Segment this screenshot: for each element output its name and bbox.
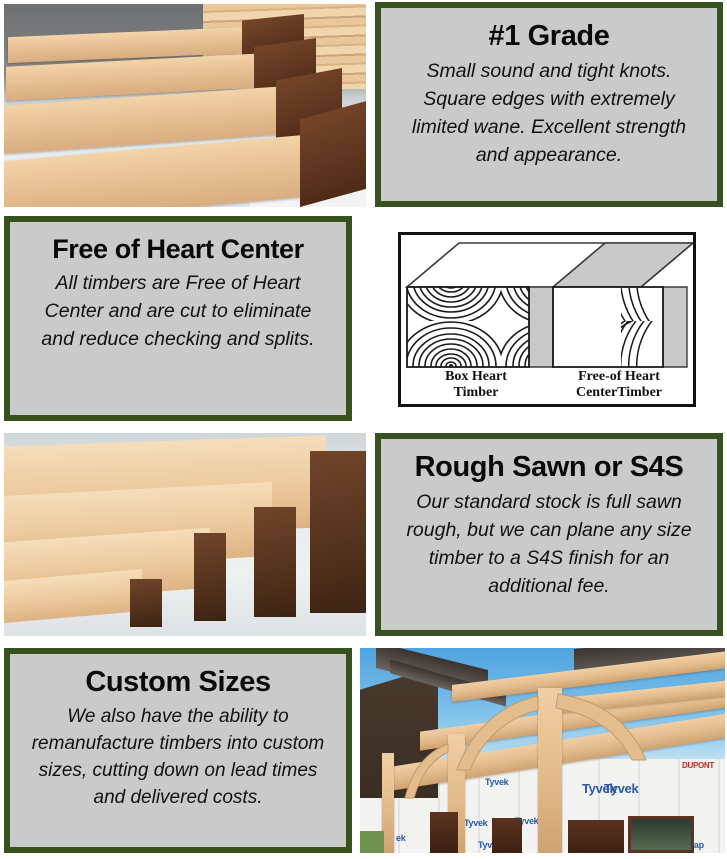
panel-grade-body: Small sound and tight knots. Square edge…	[397, 58, 701, 169]
photo2-beam-4-end	[310, 451, 366, 613]
photo2-beam-2-end	[194, 533, 226, 621]
panel-grade-title: #1 Grade	[489, 20, 610, 52]
diagram-label-fohc-line2: CenterTimber	[549, 385, 689, 401]
photo3-door-opening-3	[568, 820, 624, 853]
panel-rough-sawn: Rough Sawn or S4S Our standard stock is …	[375, 433, 723, 636]
diagram-label-fohc: Free-of Heart CenterTimber	[549, 369, 689, 401]
diagram-label-box-heart-line2: Timber	[411, 385, 541, 401]
photo3-door-opening-1	[430, 812, 458, 853]
photo-stacked-graduated-timbers	[4, 4, 366, 207]
panel-rough-sawn-title: Rough Sawn or S4S	[415, 451, 684, 483]
panel-free-of-heart-center-body: All timbers are Free of Heart Center and…	[26, 270, 330, 353]
photo2-beam-1-end	[130, 579, 162, 627]
panel-custom-sizes: Custom Sizes We also have the ability to…	[4, 648, 352, 853]
photo-timber-frame-porch: Tyvek Tyvek Tyvek Tyvek Tyvek Tyvek ek e…	[360, 648, 725, 853]
photo3-window	[628, 816, 694, 853]
panel-custom-sizes-title: Custom Sizes	[85, 666, 270, 698]
diagram-frame: Box Heart Timber Free-of Heart CenterTim…	[398, 232, 696, 407]
diagram-label-box-heart-line1: Box Heart	[411, 369, 541, 385]
panel-free-of-heart-center-title: Free of Heart Center	[52, 234, 304, 264]
diagram-label-box-heart: Box Heart Timber	[411, 369, 541, 401]
panel-custom-sizes-body: We also have the ability to remanufactur…	[26, 704, 330, 812]
photo3-grass	[360, 831, 384, 853]
timber-grade-infographic: #1 Grade Small sound and tight knots. Sq…	[0, 0, 727, 859]
photo2-beam-3-end	[254, 507, 296, 617]
panel-free-of-heart-center: Free of Heart Center All timbers are Fre…	[4, 216, 352, 421]
photo-four-timber-sizes	[4, 433, 366, 636]
panel-grade: #1 Grade Small sound and tight knots. Sq…	[375, 2, 723, 207]
diagram-label-fohc-line1: Free-of Heart	[549, 369, 689, 385]
diagram-box-heart-vs-fohc: Box Heart Timber Free-of Heart CenterTim…	[378, 222, 716, 417]
photo3-door-opening-2	[492, 818, 522, 853]
panel-rough-sawn-body: Our standard stock is full sawn rough, b…	[397, 489, 701, 600]
